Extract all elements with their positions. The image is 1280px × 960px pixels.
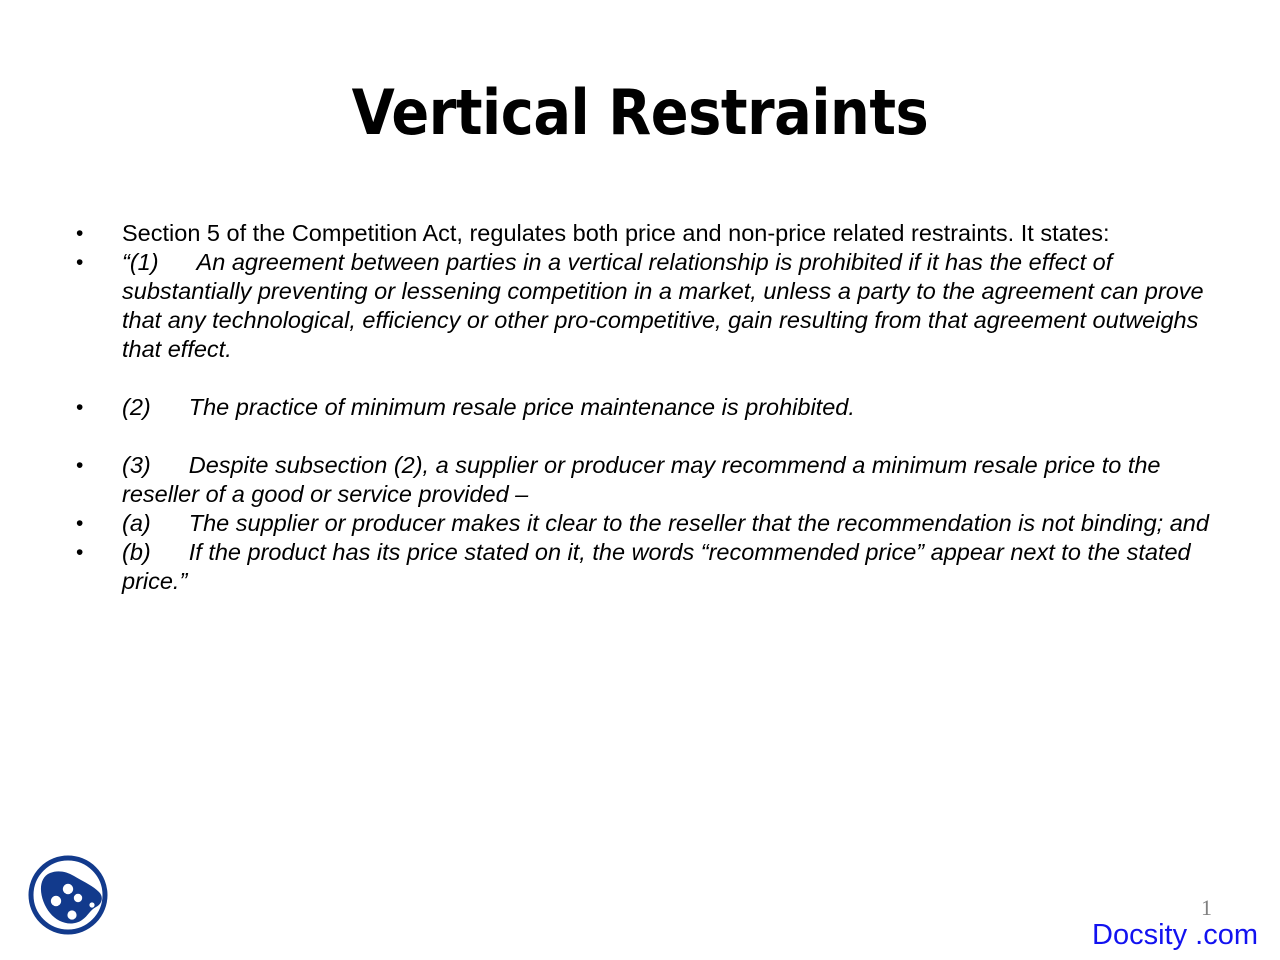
list-item-text: “(1)An agreement between parties in a ve… (122, 248, 1222, 364)
spacer (62, 364, 1222, 393)
spacer (62, 422, 1222, 451)
list-item-text: (a)The supplier or producer makes it cle… (122, 509, 1222, 538)
page-number: 1 (1201, 897, 1212, 919)
docsity-logo (20, 847, 116, 943)
list-item: • (b)If the product has its price stated… (62, 538, 1222, 596)
list-item-text: (3)Despite subsection (2), a supplier or… (122, 451, 1222, 509)
page-title: Vertical Restraints (64, 80, 1216, 145)
clause-label: (2) (122, 394, 151, 420)
list-item-text: Section 5 of the Competition Act, regula… (122, 219, 1222, 248)
clause-label: (b) (122, 539, 151, 565)
clause-label: (a) (122, 510, 151, 536)
list-item: • (a)The supplier or producer makes it c… (62, 509, 1222, 538)
list-item: • (3)Despite subsection (2), a supplier … (62, 451, 1222, 509)
list-item: • “(1)An agreement between parties in a … (62, 248, 1222, 364)
bullet-marker-icon: • (62, 509, 122, 538)
bullet-marker-icon: • (62, 393, 122, 422)
bullet-marker-icon: • (62, 219, 122, 248)
clause-label: “(1) (122, 249, 159, 275)
docsity-brand-link[interactable]: Docsity .com (1092, 919, 1258, 951)
slide-canvas: Vertical Restraints • Section 5 of the C… (0, 0, 1280, 960)
list-item: • Section 5 of the Competition Act, regu… (62, 219, 1222, 248)
list-item: • (2)The practice of minimum resale pric… (62, 393, 1222, 422)
list-item-text: (b)If the product has its price stated o… (122, 538, 1222, 596)
bullet-marker-icon: • (62, 538, 122, 567)
bullet-marker-icon: • (62, 451, 122, 480)
clause-label: (3) (122, 452, 151, 478)
list-item-text: (2)The practice of minimum resale price … (122, 393, 1222, 422)
bullet-list: • Section 5 of the Competition Act, regu… (62, 219, 1222, 596)
bullet-marker-icon: • (62, 248, 122, 277)
